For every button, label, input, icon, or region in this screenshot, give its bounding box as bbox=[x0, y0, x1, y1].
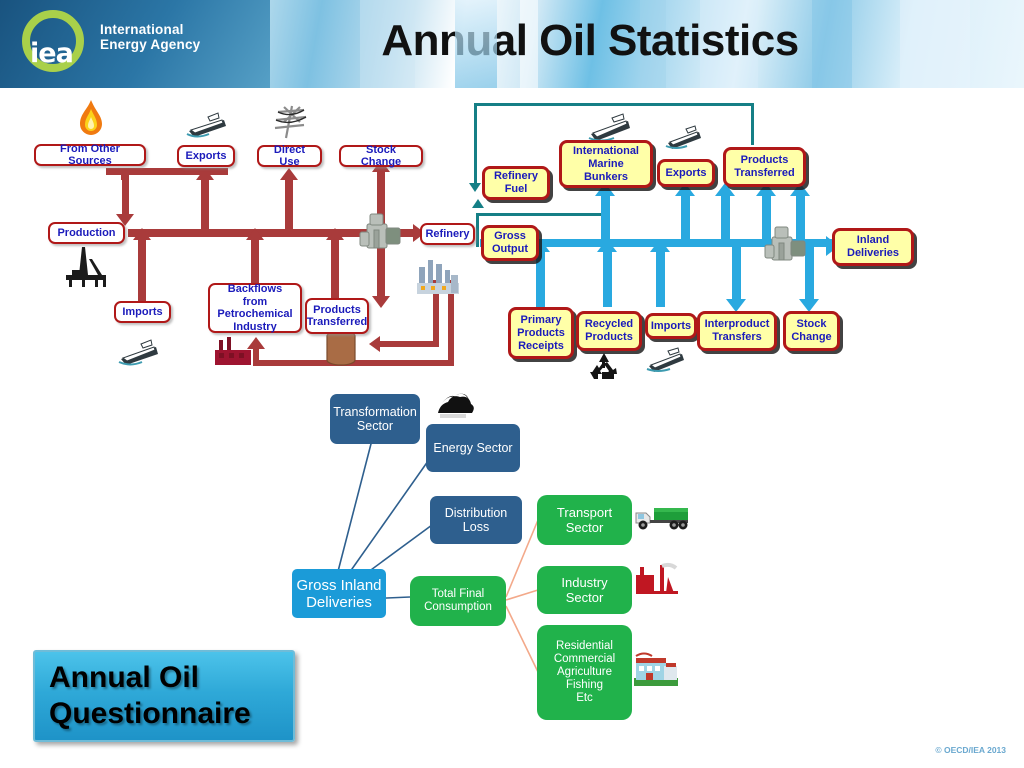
node-label: Exports bbox=[186, 150, 227, 163]
arrowhead-imports-products bbox=[650, 239, 670, 252]
teal-right-line bbox=[751, 103, 754, 145]
node-stock-change-products[interactable]: Stock Change bbox=[783, 311, 840, 351]
node-label-line: Commercial bbox=[554, 653, 615, 666]
aoq-line1: Annual Oil bbox=[49, 660, 251, 696]
iea-logo: iea bbox=[22, 10, 92, 80]
node-label-line: Primary bbox=[521, 314, 562, 327]
annual-oil-questionnaire-button[interactable]: Annual Oil Questionnaire bbox=[33, 650, 295, 742]
node-label-line: Deliveries bbox=[847, 247, 899, 260]
node-label-line: Total Final bbox=[432, 588, 484, 601]
org-name: International Energy Agency bbox=[100, 22, 200, 52]
node-energy-sector[interactable]: Energy Sector bbox=[426, 424, 520, 472]
node-refinery[interactable]: Refinery bbox=[420, 223, 475, 245]
ship-icon bbox=[588, 108, 634, 144]
node-label: Imports bbox=[122, 306, 162, 319]
node-label-line: Interproduct bbox=[705, 318, 770, 331]
smoke-plume-icon bbox=[434, 389, 474, 423]
node-transformation-sector[interactable]: Transformation Sector bbox=[330, 394, 420, 444]
node-label-line: Products bbox=[741, 154, 789, 167]
node-label-line: Receipts bbox=[518, 340, 564, 353]
teal-left-line bbox=[474, 103, 477, 188]
refinery-return-left bbox=[380, 341, 439, 347]
node-label-line: Distribution Loss bbox=[434, 506, 518, 534]
exports-arrowhead bbox=[196, 168, 214, 180]
node-stock-change-crude[interactable]: Stock Change bbox=[339, 145, 423, 167]
node-from-other-sources[interactable]: From Other Sources bbox=[34, 144, 146, 166]
ship-icon bbox=[646, 341, 688, 375]
node-label-line: Residential bbox=[556, 640, 613, 653]
node-industry-sector[interactable]: Industry Sector bbox=[537, 566, 632, 614]
node-label: From Other Sources bbox=[42, 143, 138, 168]
node-label-line: Fishing bbox=[566, 679, 603, 692]
truck-icon bbox=[634, 503, 692, 533]
direct-use-arrowhead bbox=[280, 168, 298, 180]
valve-manifold-icon bbox=[762, 224, 812, 270]
node-inland-deliveries[interactable]: Inland Deliveries bbox=[832, 228, 914, 266]
aoq-line2: Questionnaire bbox=[49, 696, 251, 732]
valve-manifold-icon bbox=[357, 210, 407, 258]
teal-gross-left bbox=[476, 213, 479, 235]
node-label-line: Transport bbox=[557, 505, 612, 520]
node-imports-products[interactable]: Imports bbox=[645, 313, 697, 339]
riser-recycled-products bbox=[603, 247, 612, 307]
node-exports-crude[interactable]: Exports bbox=[177, 145, 235, 167]
node-label-line: Fuel bbox=[505, 183, 528, 196]
drop-interproduct-transfers bbox=[732, 243, 741, 301]
products-transferred-arrowhead bbox=[326, 228, 344, 240]
org-name-line2: Energy Agency bbox=[100, 37, 200, 52]
node-backflows[interactable]: Backflows from Petrochemical Industry bbox=[208, 283, 302, 333]
teal-gross-arrowhead bbox=[472, 199, 484, 208]
node-label-line: International bbox=[573, 145, 639, 158]
node-label-line: Transferred bbox=[307, 316, 368, 329]
node-products-transferred-products[interactable]: Products Transferred bbox=[723, 147, 806, 187]
node-label: Refinery bbox=[425, 228, 469, 241]
node-label-line: Transformation bbox=[333, 405, 417, 419]
node-interproduct-transfers[interactable]: Interproduct Transfers bbox=[697, 311, 777, 351]
node-label-line: Output bbox=[492, 243, 528, 256]
node-refinery-fuel[interactable]: Refinery Fuel bbox=[482, 166, 550, 200]
node-label-line: Sector bbox=[566, 520, 604, 535]
node-label-line: Industry bbox=[233, 321, 276, 334]
node-label-line: Products bbox=[585, 331, 633, 344]
ship-icon bbox=[118, 333, 162, 369]
node-label-line: Refinery bbox=[494, 170, 538, 183]
copyright-notice: © OECD/IEA 2013 bbox=[935, 745, 1006, 755]
node-label-line: Products bbox=[517, 327, 565, 340]
refinery-plant-icon bbox=[415, 255, 461, 295]
node-exports-products[interactable]: Exports bbox=[657, 159, 715, 187]
exports-line bbox=[201, 178, 209, 233]
oil-barrels-icon bbox=[323, 329, 359, 367]
node-imports-crude[interactable]: Imports bbox=[114, 301, 171, 323]
page-title: Annual Oil Statistics bbox=[290, 16, 890, 66]
products-transferred-line bbox=[331, 237, 339, 299]
riser-exports-products bbox=[681, 193, 690, 243]
node-label-line: Transfers bbox=[712, 331, 762, 344]
node-label-line: Recycled bbox=[585, 318, 633, 331]
node-transport-sector[interactable]: Transport Sector bbox=[537, 495, 632, 545]
node-gross-output[interactable]: Gross Output bbox=[481, 225, 539, 261]
node-label-line: Change bbox=[791, 331, 831, 344]
node-recycled-products[interactable]: Recycled Products bbox=[576, 311, 642, 351]
iea-logo-text: iea bbox=[30, 38, 73, 69]
node-label-line: Backflows from bbox=[216, 283, 294, 308]
flame-icon bbox=[76, 98, 106, 142]
node-label-line: Petrochemical bbox=[217, 308, 292, 321]
node-label-line: Marine bbox=[588, 158, 623, 171]
node-international-marine-bunkers[interactable]: International Marine Bunkers bbox=[559, 140, 653, 188]
node-label: Stock Change bbox=[347, 144, 415, 169]
teal-top-line bbox=[474, 103, 754, 106]
stock-change-arrowhead-down bbox=[372, 296, 390, 308]
node-label: Production bbox=[57, 227, 115, 240]
node-label-line: Bunkers bbox=[584, 171, 628, 184]
org-name-line1: International bbox=[100, 22, 200, 37]
node-label-line: Industry Sector bbox=[541, 575, 628, 605]
node-products-transferred-crude[interactable]: Products Transferred bbox=[305, 298, 369, 334]
power-lines-icon bbox=[270, 104, 312, 140]
backflows-arrowhead bbox=[246, 228, 264, 240]
node-residential-other[interactable]: Residential Commercial Agriculture Fishi… bbox=[537, 625, 632, 720]
node-label-line: Sector bbox=[357, 419, 393, 433]
teal-gross-top bbox=[476, 213, 610, 216]
node-label-line: Energy Sector bbox=[433, 441, 512, 455]
node-label: Direct Use bbox=[265, 144, 314, 169]
direct-use-line bbox=[285, 178, 293, 233]
buildings-icon bbox=[632, 650, 680, 688]
oil-rig-icon bbox=[62, 245, 110, 287]
imports-line bbox=[138, 237, 146, 301]
node-label-line: Deliveries bbox=[306, 594, 372, 611]
riser-products-transferred-a bbox=[721, 193, 730, 243]
teal-left-arrowhead bbox=[469, 183, 481, 192]
node-label-line: Etc bbox=[576, 692, 593, 705]
recycle-icon bbox=[588, 352, 620, 382]
node-gross-inland-deliveries[interactable]: Gross Inland Deliveries bbox=[292, 569, 386, 618]
refinery-return-arrowhead bbox=[369, 336, 380, 352]
node-total-final-consumption[interactable]: Total Final Consumption bbox=[410, 576, 506, 626]
backflows-line bbox=[251, 237, 259, 283]
node-label-line: Consumption bbox=[424, 601, 492, 614]
node-label-line: Agriculture bbox=[557, 666, 612, 679]
node-distribution-loss[interactable]: Distribution Loss bbox=[430, 496, 522, 544]
node-label-line: Gross Inland bbox=[296, 577, 381, 594]
node-label-line: Stock bbox=[797, 318, 827, 331]
slide-canvas: iea International Energy Agency Annual O… bbox=[0, 0, 1024, 768]
petrochemical-plant-icon bbox=[213, 334, 253, 366]
node-label-line: Exports bbox=[666, 167, 707, 180]
riser-imports-products bbox=[656, 247, 665, 307]
ship-icon bbox=[665, 120, 705, 152]
node-label-line: Products bbox=[313, 304, 361, 317]
riser-marine-bunkers bbox=[601, 193, 610, 243]
ship-icon bbox=[186, 106, 228, 140]
node-primary-products-receipts[interactable]: Primary Products Receipts bbox=[508, 307, 574, 359]
node-direct-use[interactable]: Direct Use bbox=[257, 145, 322, 167]
node-label-line: Transferred bbox=[734, 167, 795, 180]
slide-header: iea International Energy Agency Annual O… bbox=[0, 0, 1024, 88]
other-sources-down bbox=[122, 168, 129, 218]
node-label-line: Inland bbox=[857, 234, 889, 247]
factory-icon bbox=[634, 563, 680, 597]
node-production[interactable]: Production bbox=[48, 222, 125, 244]
node-label-line: Gross bbox=[494, 230, 526, 243]
node-label-line: Imports bbox=[651, 320, 691, 333]
arrowhead-recycled-products bbox=[597, 239, 617, 252]
teal-gross-stub bbox=[476, 233, 479, 247]
imports-arrowhead bbox=[133, 228, 151, 240]
